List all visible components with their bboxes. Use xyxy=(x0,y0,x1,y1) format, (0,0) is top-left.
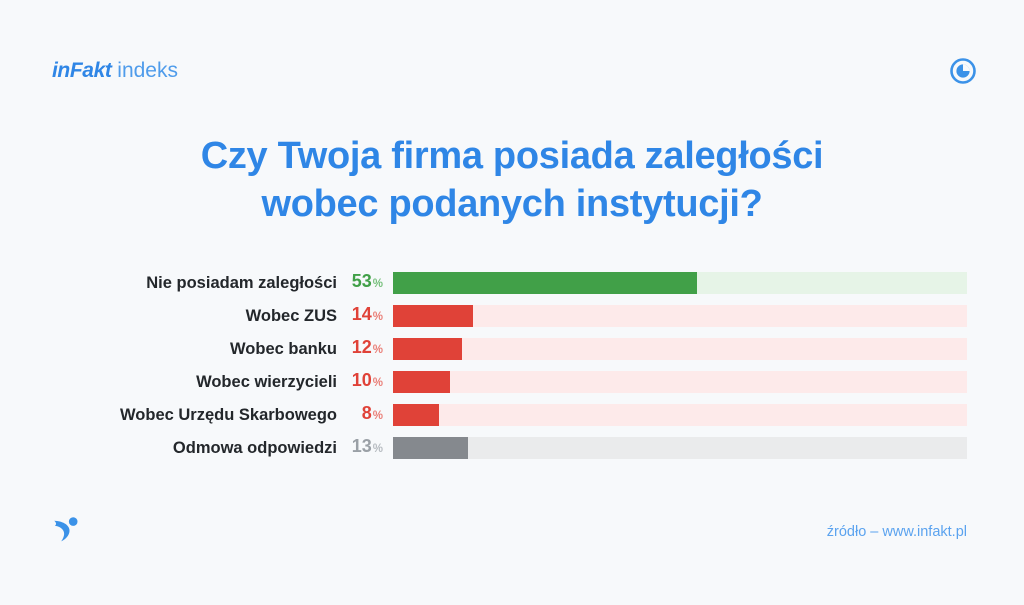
percent-sign: % xyxy=(373,278,383,290)
page-title: Czy Twoja firma posiada zaległości wobec… xyxy=(0,132,1024,228)
bar-fill xyxy=(393,338,462,360)
chart-row: Wobec Urzędu Skarbowego 8% xyxy=(0,398,1024,431)
bar-value-number: 53 xyxy=(352,271,372,291)
bar-track xyxy=(393,338,967,360)
bar-value-label: 14% xyxy=(337,303,393,328)
bar-value-number: 8 xyxy=(362,403,372,423)
bar-fill xyxy=(393,404,439,426)
chart-row: Odmowa odpowiedzi 13% xyxy=(0,431,1024,464)
bar-category-label: Nie posiadam zaległości xyxy=(54,272,337,294)
page-title-line-2: wobec podanych instytucji? xyxy=(0,180,1024,228)
chart-row: Wobec banku 12% xyxy=(0,332,1024,365)
bar-fill xyxy=(393,305,473,327)
brand-logo[interactable]: inFakt indeks xyxy=(52,58,178,84)
bar-value-number: 13 xyxy=(352,436,372,456)
brand-name-light: indeks xyxy=(111,59,178,82)
chart-row: Nie posiadam zaległości 53% xyxy=(0,266,1024,299)
bar-category-label: Odmowa odpowiedzi xyxy=(54,437,337,459)
bar-fill xyxy=(393,272,697,294)
percent-sign: % xyxy=(373,311,383,323)
bar-value-number: 14 xyxy=(352,304,372,324)
page-title-line-1: Czy Twoja firma posiada zaległości xyxy=(0,132,1024,180)
percent-sign: % xyxy=(373,410,383,422)
bar-value-label: 13% xyxy=(337,435,393,460)
bar-fill xyxy=(393,437,468,459)
chart-row: Wobec ZUS 14% xyxy=(0,299,1024,332)
bar-value-label: 8% xyxy=(337,402,393,427)
bar-category-label: Wobec wierzycieli xyxy=(54,371,337,393)
brand-name-strong: inFakt xyxy=(52,59,111,82)
bar-value-label: 10% xyxy=(337,369,393,394)
source-credit[interactable]: źródło – www.infakt.pl xyxy=(827,523,967,541)
bar-track xyxy=(393,272,967,294)
percent-sign: % xyxy=(373,344,383,356)
bar-value-label: 53% xyxy=(337,270,393,295)
bar-track xyxy=(393,305,967,327)
bar-track xyxy=(393,404,967,426)
bar-fill xyxy=(393,371,450,393)
bird-logo-icon xyxy=(50,513,82,545)
bar-value-number: 10 xyxy=(352,370,372,390)
bar-track xyxy=(393,437,967,459)
bar-category-label: Wobec ZUS xyxy=(54,305,337,327)
bar-track xyxy=(393,371,967,393)
bar-category-label: Wobec banku xyxy=(54,338,337,360)
bar-chart: Nie posiadam zaległości 53% Wobec ZUS 14… xyxy=(0,266,1024,464)
pie-chart-circle-icon xyxy=(950,58,976,84)
percent-sign: % xyxy=(373,377,383,389)
bar-value-number: 12 xyxy=(352,337,372,357)
chart-row: Wobec wierzycieli 10% xyxy=(0,365,1024,398)
bar-value-label: 12% xyxy=(337,336,393,361)
percent-sign: % xyxy=(373,443,383,455)
bar-category-label: Wobec Urzędu Skarbowego xyxy=(54,404,337,426)
header: inFakt indeks xyxy=(0,0,1024,110)
